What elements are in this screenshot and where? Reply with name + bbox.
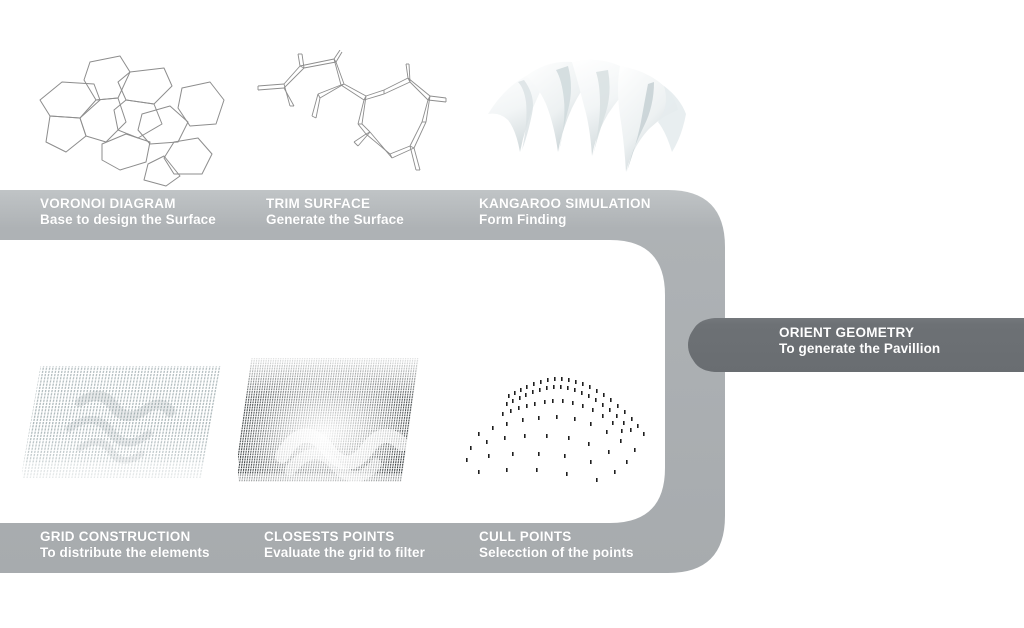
process-diagram: VORONOI DIAGRAM Base to design the Surfa… [0,0,1024,628]
culled-points-scatter-thumbnail [448,360,678,490]
timber-pavilion-render-thumbnail [762,172,1014,314]
relaxed-canopy-mesh-thumbnail [482,52,692,182]
closest-points-field-thumbnail [238,352,428,502]
voronoi-cells-thumbnail [22,38,252,188]
trimmed-strip-network-thumbnail [250,50,455,185]
thumbnails-layer [0,0,1024,628]
dense-point-grid-thumbnail [22,358,222,503]
